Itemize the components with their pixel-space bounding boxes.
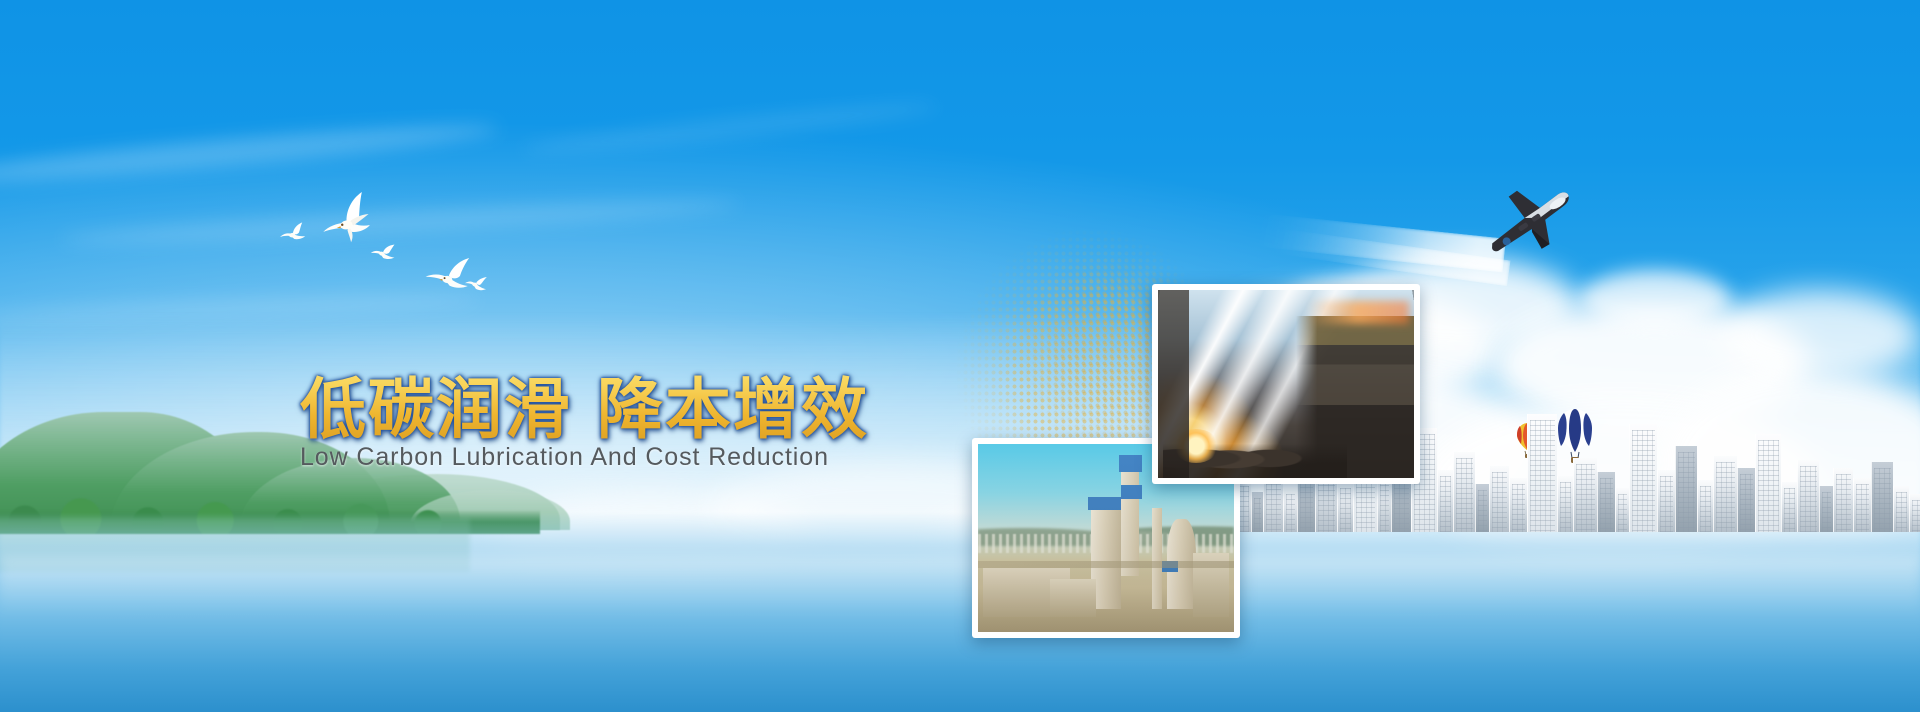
subtitle: Low Carbon Lubrication And Cost Reductio… (300, 443, 829, 472)
photo-steel-mill[interactable] (1152, 284, 1420, 484)
dove-icon (279, 222, 309, 251)
page-title: 低碳润滑 降本增效 (300, 356, 869, 452)
dove-icon (370, 242, 398, 269)
airplane-icon (1480, 180, 1580, 265)
water-gloss (0, 556, 1920, 616)
hero-banner: 低碳润滑 降本增效 低碳润滑 降本增效 Low Carbon Lubricati… (0, 0, 1920, 712)
dove-icon (464, 274, 490, 299)
